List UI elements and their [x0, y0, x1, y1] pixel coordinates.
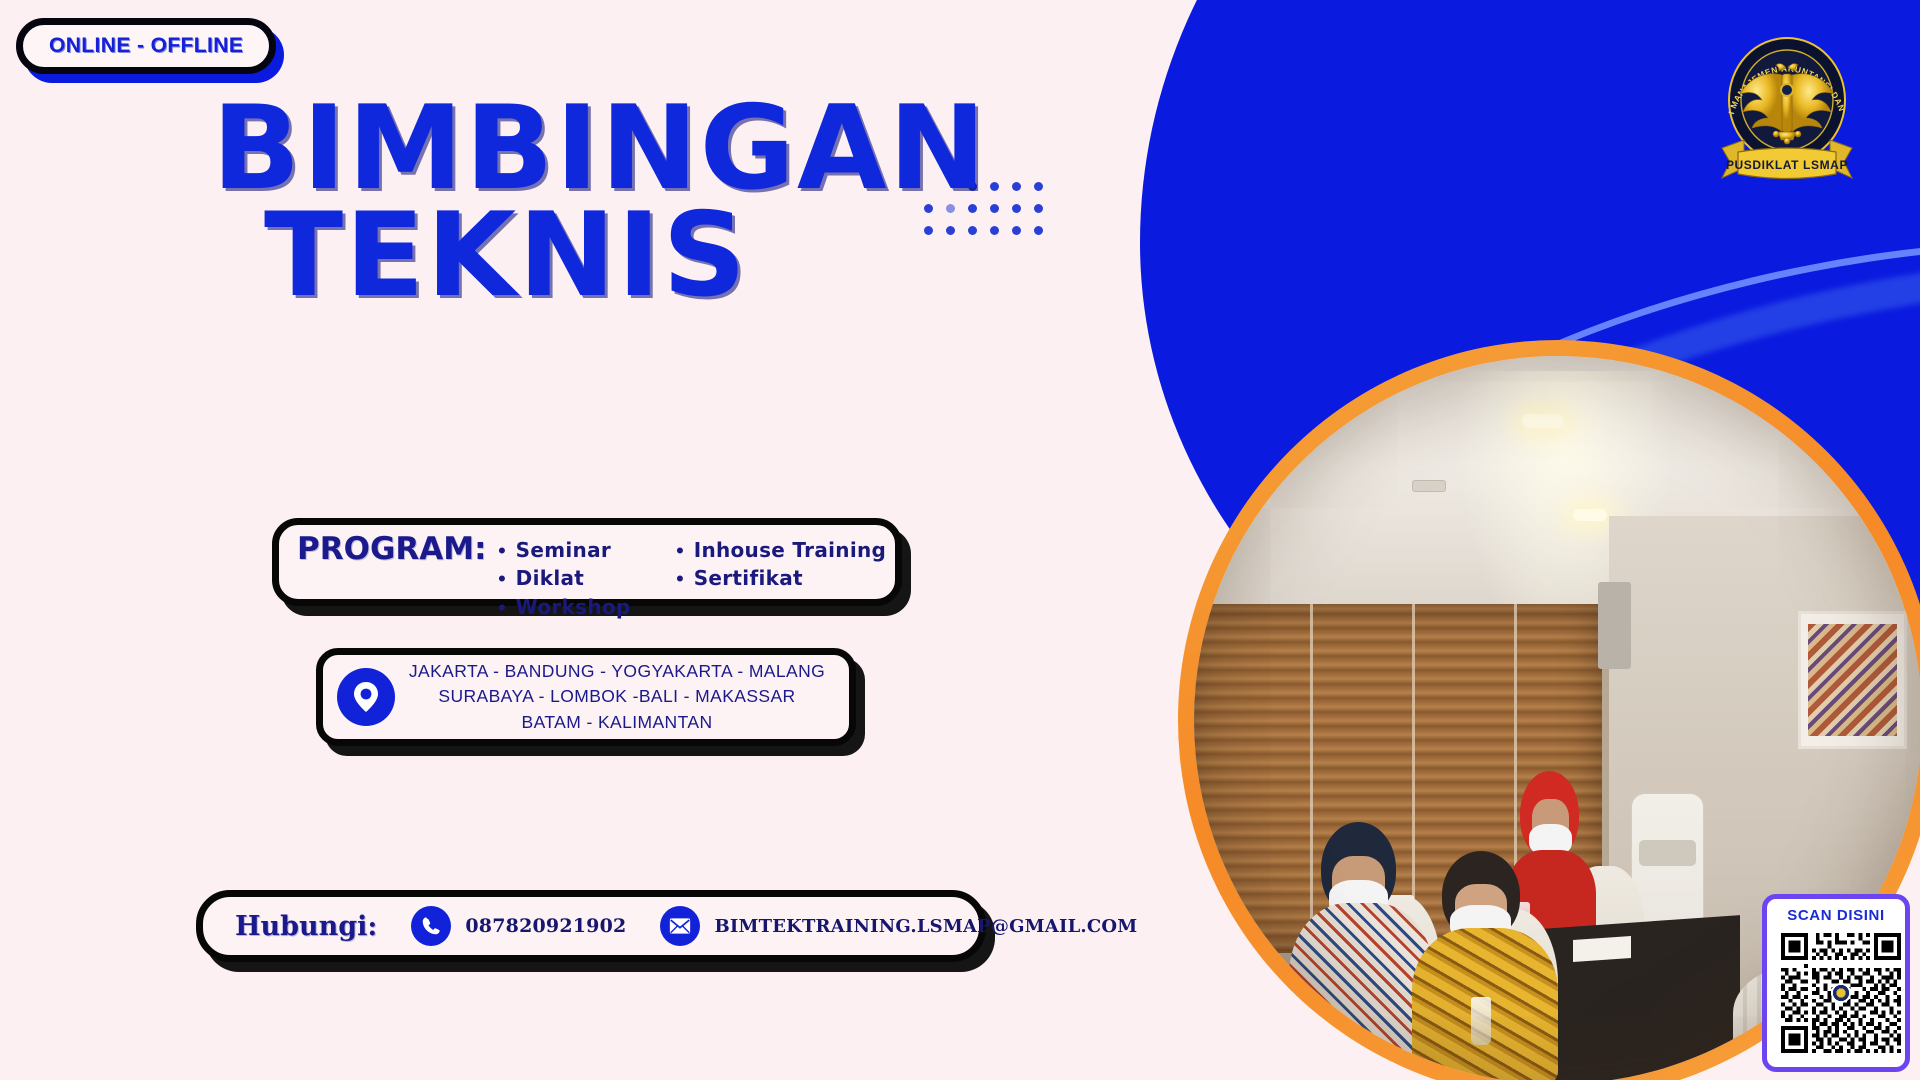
qr-code-card[interactable]: SCAN DISINI: [1762, 894, 1910, 1072]
map-pin-icon: [337, 668, 395, 726]
email-address: BIMTEKTRAINING.LSMAP@GMAIL.COM: [714, 916, 1137, 937]
program-item: Sertifikat: [675, 564, 887, 592]
location-line: BATAM - KALIMANTAN: [395, 710, 839, 735]
program-item: Inhouse Training: [675, 536, 887, 564]
program-item: Seminar: [497, 536, 631, 564]
contact-box: Hubungi: 087820921902 BIMTEKTRAINING.LSM…: [196, 890, 986, 962]
page-title: BIMBINGAN TEKNIS: [120, 96, 1020, 309]
online-offline-label: ONLINE - OFFLINE: [49, 34, 243, 57]
online-offline-badge: ONLINE - OFFLINE: [16, 18, 276, 74]
location-line: SURABAYA - LOMBOK -BALI - MAKASSAR: [395, 684, 839, 709]
phone-number: 087820921902: [465, 915, 626, 937]
phone-icon: [411, 906, 451, 946]
program-column-2: Inhouse Training Sertifikat: [675, 536, 887, 621]
qr-title: SCAN DISINI: [1777, 907, 1895, 924]
program-label: PROGRAM:: [297, 533, 487, 566]
location-box: JAKARTA - BANDUNG - YOGYAKARTA - MALANG …: [316, 648, 856, 746]
location-line: JAKARTA - BANDUNG - YOGYAKARTA - MALANG: [395, 659, 839, 684]
program-item: Workshop: [497, 593, 631, 621]
program-column-1: Seminar Diklat Workshop: [497, 536, 631, 621]
contact-label: Hubungi:: [235, 911, 377, 942]
qr-code-image: [1777, 929, 1905, 1057]
headline-line-2: TEKNIS: [120, 203, 1020, 310]
program-item: Diklat: [497, 564, 631, 592]
envelope-icon: [660, 906, 700, 946]
program-box: PROGRAM: Seminar Diklat Workshop Inhouse…: [272, 518, 902, 606]
pusdiklat-lsmap-logo: LEMBAGA STUDI MANAJEMEN AKUNTANSI DAN PE…: [1712, 28, 1862, 188]
logo-ribbon-text: PUSDIKLAT LSMAP: [1726, 158, 1848, 172]
headline-line-1: BIMBINGAN: [120, 96, 1020, 203]
